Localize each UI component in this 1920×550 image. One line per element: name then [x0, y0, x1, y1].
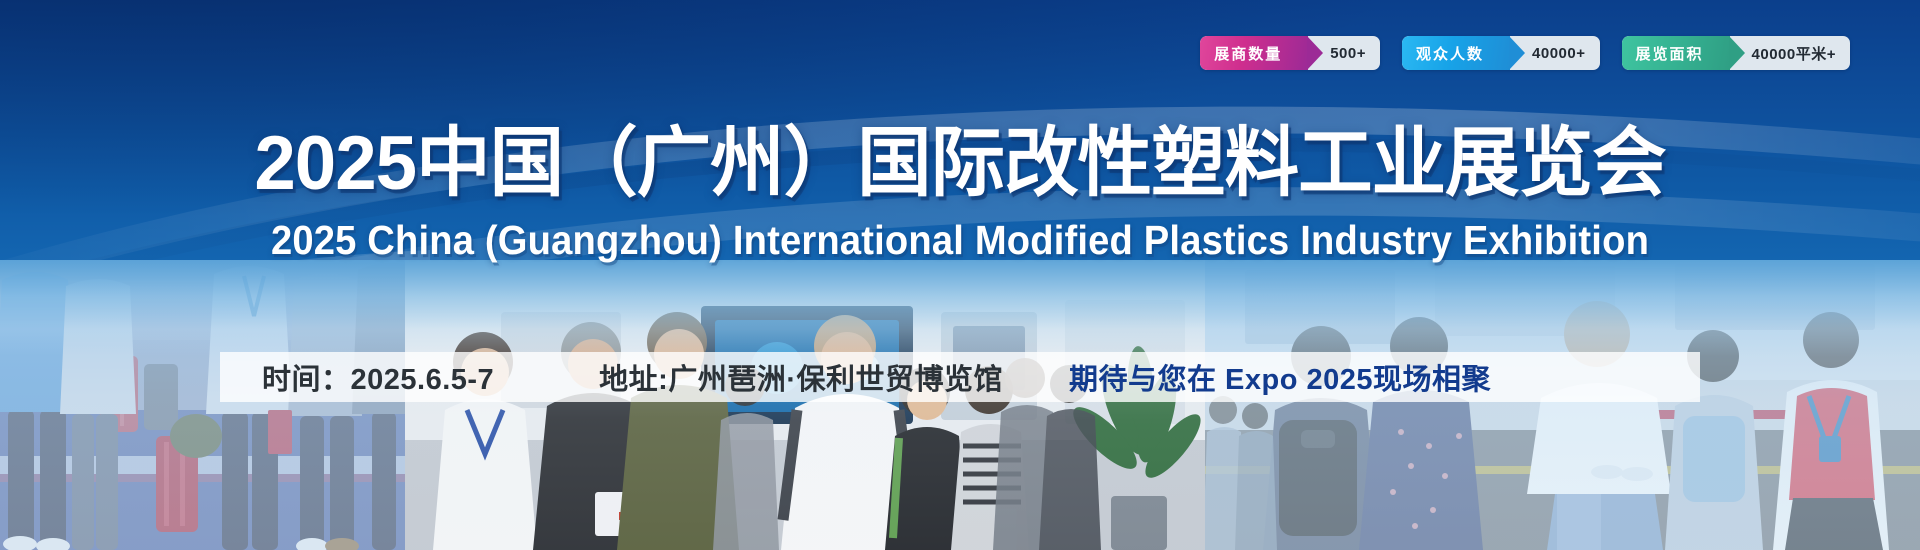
- exhibition-photo-band: [0, 260, 1920, 550]
- photo-blue-wash-right: [1205, 260, 1920, 550]
- exhibition-banner: 展商数量 500+ 观众人数 40000+ 展览面积 40000平米+ 2025…: [0, 0, 1920, 550]
- stat-badge-area-label: 展览面积: [1636, 43, 1704, 64]
- event-cta-text: 期待与您在 Expo 2025现场相聚: [1069, 356, 1491, 398]
- event-info-bar: 时间：2025.6.5-7 地址:广州琶洲·保利世贸博览馆 期待与您在 Expo…: [220, 352, 1700, 402]
- event-date: 时间：2025.6.5-7: [262, 356, 494, 398]
- stat-badge-exhibitors: 展商数量 500+: [1200, 36, 1380, 70]
- stat-badge-area-value: 40000平米+: [1730, 36, 1850, 70]
- stat-badges: 展商数量 500+ 观众人数 40000+ 展览面积 40000平米+: [1200, 36, 1850, 70]
- stat-badge-area-label-wrap: 展览面积: [1622, 36, 1730, 70]
- stat-badge-visitors-label: 观众人数: [1416, 43, 1484, 64]
- event-address: 地址:广州琶洲·保利世贸博览馆: [599, 356, 1003, 398]
- stat-badge-visitors-label-wrap: 观众人数: [1402, 36, 1510, 70]
- photo-blue-wash-left: [0, 260, 405, 550]
- photo-entrance-queue-right: [1205, 260, 1920, 550]
- stat-badge-exhibitors-label: 展商数量: [1214, 43, 1282, 64]
- stat-badge-visitors: 观众人数 40000+: [1402, 36, 1600, 70]
- photo-visitors-middle: [405, 260, 1205, 550]
- photo-light-wash-middle: [405, 260, 1205, 550]
- stat-badge-exhibitors-label-wrap: 展商数量: [1200, 36, 1308, 70]
- photo-attendees-left: [0, 260, 405, 550]
- stat-badge-area: 展览面积 40000平米+: [1622, 36, 1851, 70]
